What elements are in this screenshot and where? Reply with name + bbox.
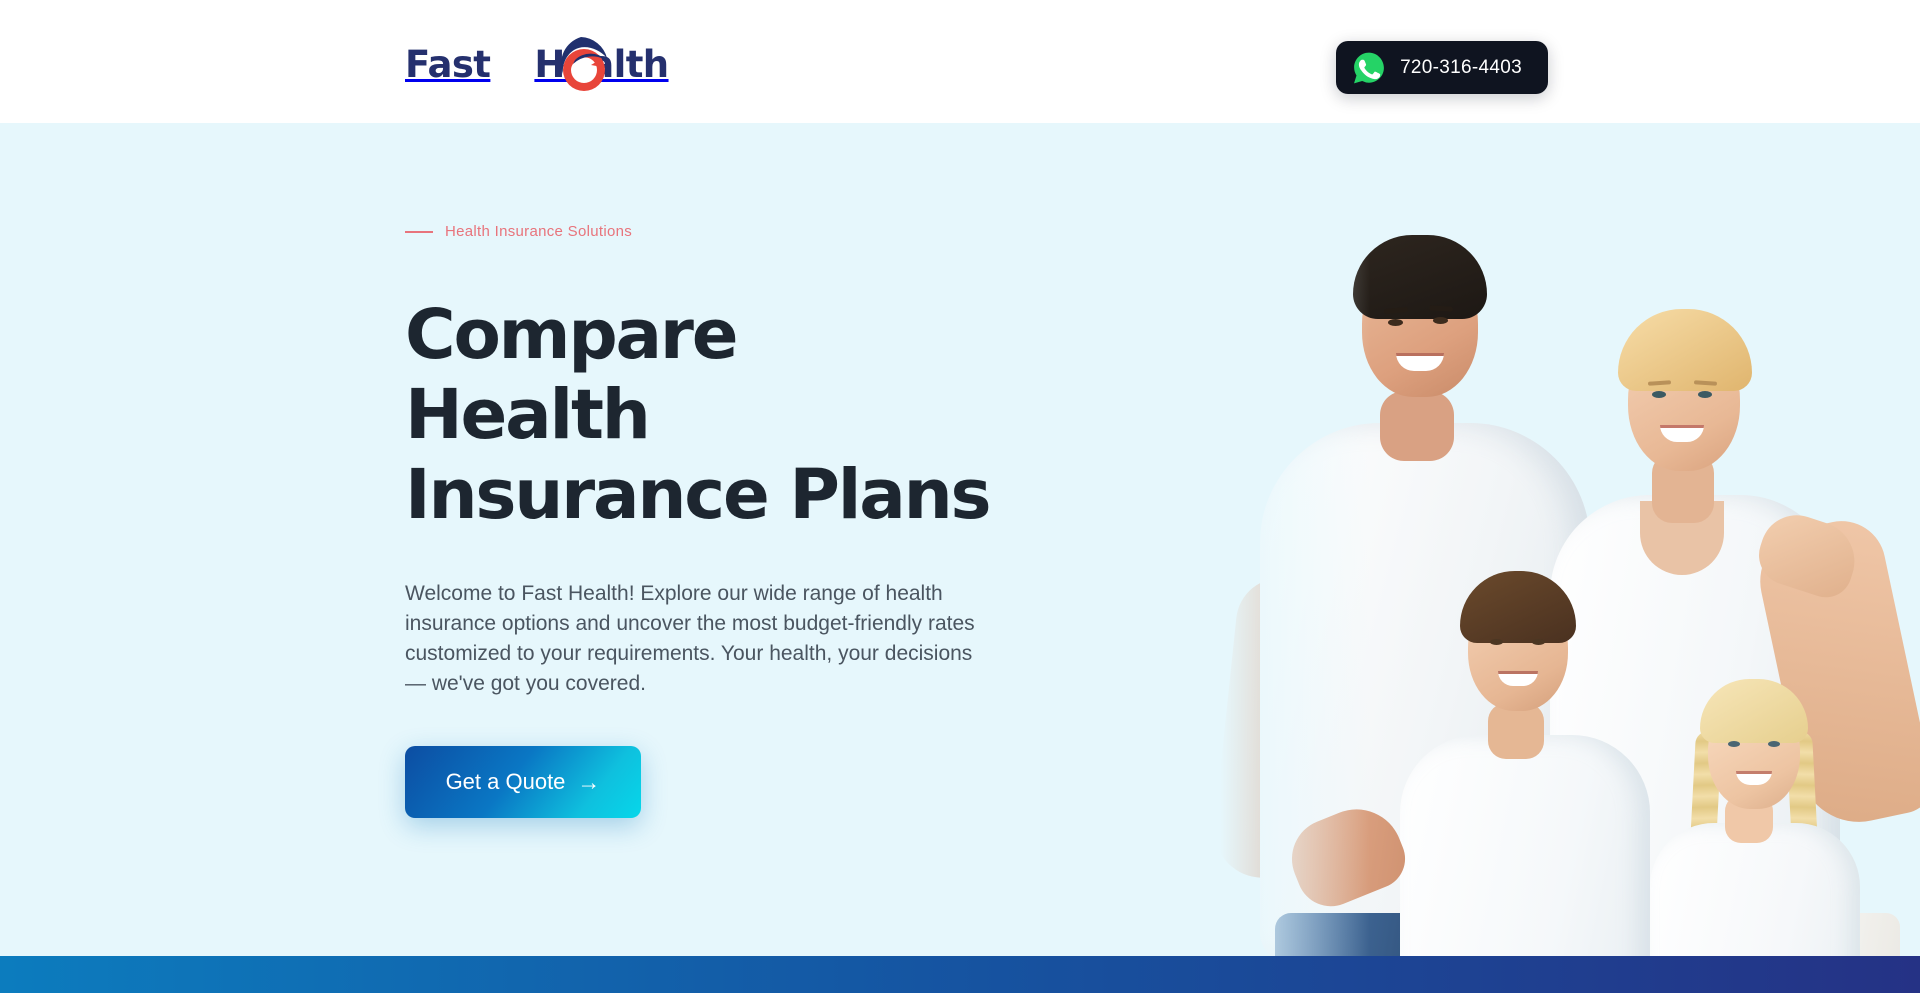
phone-number-label: 720-316-4403: [1400, 57, 1522, 79]
boy-eye-right: [1532, 639, 1545, 645]
hero-eyebrow-label: Health Insurance Solutions: [445, 223, 632, 240]
headline-line-3: Insurance Plans: [405, 455, 1025, 535]
boy-eye-left: [1490, 639, 1503, 645]
headline-line-2: Health: [405, 375, 1025, 455]
arrow-right-icon: →: [577, 771, 600, 794]
girl-eye-left: [1728, 741, 1740, 747]
whatsapp-phone-button[interactable]: 720-316-4403: [1336, 41, 1548, 94]
hero-family-image: [1220, 123, 1920, 956]
father-hair: [1353, 235, 1487, 319]
father-eye-left: [1388, 319, 1403, 326]
site-header: Fast Health: [0, 0, 1920, 123]
girl-eye-right: [1768, 741, 1780, 747]
fasthealth-circle-arrow-logo-icon: [550, 34, 612, 96]
eyebrow-dash-icon: [405, 231, 433, 233]
boy-neck: [1488, 703, 1544, 759]
hero-eyebrow: Health Insurance Solutions: [405, 223, 1025, 240]
headline-line-1: Compare: [405, 295, 1025, 375]
get-a-quote-button[interactable]: Get a Quote →: [405, 746, 641, 818]
whatsapp-icon: [1352, 51, 1386, 85]
hero-image-canvas: [1220, 123, 1920, 956]
logo-word-fast: Fast: [405, 46, 490, 83]
father-neck: [1380, 391, 1454, 461]
site-logo[interactable]: Fast Health: [405, 38, 669, 90]
boy-shirt: [1400, 735, 1650, 956]
hero-copy-block: Health Insurance Solutions Compare Healt…: [405, 223, 1025, 818]
father-eye-right: [1433, 317, 1448, 324]
hero-description: Welcome to Fast Health! Explore our wide…: [405, 579, 975, 698]
mother-eye-right: [1698, 391, 1712, 398]
mother-hair-top: [1618, 309, 1752, 391]
landing-page: Fast Health: [0, 0, 1920, 993]
cta-label: Get a Quote: [446, 769, 566, 795]
bottom-gradient-bar: [0, 956, 1920, 993]
mother-eye-left: [1652, 391, 1666, 398]
hero-image-left-fade: [1220, 123, 1370, 956]
hero-section: Health Insurance Solutions Compare Healt…: [0, 123, 1920, 956]
page-title: Compare Health Insurance Plans: [405, 295, 1025, 535]
